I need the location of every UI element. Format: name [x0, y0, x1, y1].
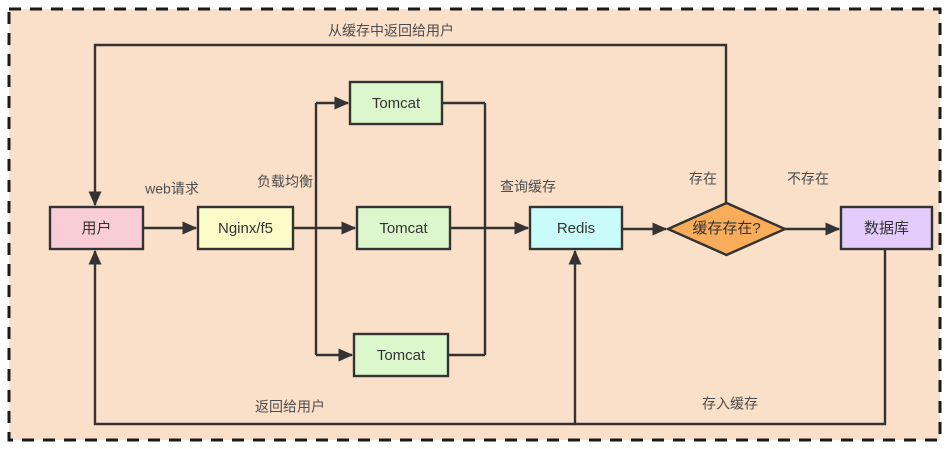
- diagram-boundary: [9, 9, 940, 440]
- node-tomcat-1[interactable]: Tomcat: [350, 82, 442, 124]
- node-redis[interactable]: Redis: [530, 207, 622, 249]
- node-label-tomcat-2: Tomcat: [379, 220, 428, 237]
- node-label-redis: Redis: [557, 220, 595, 237]
- flowchart-canvas: web请求 负载均衡 查询缓存 存在 从缓存中返回给用户: [0, 0, 949, 449]
- node-database[interactable]: 数据库: [841, 207, 932, 249]
- edge-label-exists: 存在: [689, 171, 717, 187]
- node-label-database: 数据库: [864, 220, 909, 237]
- node-label-cache-exists-decision: 缓存存在?: [692, 220, 760, 237]
- edge-label-query-cache: 查询缓存: [500, 179, 556, 195]
- edge-label-not-exists: 不存在: [787, 171, 829, 187]
- node-nginx-f5[interactable]: Nginx/f5: [198, 207, 293, 249]
- flowchart-svg: web请求 负载均衡 查询缓存 存在 从缓存中返回给用户: [0, 0, 949, 449]
- node-label-tomcat-3: Tomcat: [377, 347, 426, 364]
- edge-label-load-balance: 负载均衡: [257, 174, 313, 190]
- node-label-nginx-f5: Nginx/f5: [218, 220, 273, 237]
- node-label-user: 用户: [81, 220, 111, 237]
- edge-label-return-to-user: 返回给用户: [255, 399, 325, 415]
- edge-label-store-cache: 存入缓存: [702, 396, 758, 412]
- node-tomcat-2[interactable]: Tomcat: [357, 207, 450, 249]
- node-user[interactable]: 用户: [50, 207, 143, 249]
- node-tomcat-3[interactable]: Tomcat: [354, 334, 448, 376]
- edge-label-web-request: web请求: [144, 181, 199, 197]
- node-label-tomcat-1: Tomcat: [372, 95, 421, 112]
- edge-label-return-from-cache: 从缓存中返回给用户: [328, 23, 454, 39]
